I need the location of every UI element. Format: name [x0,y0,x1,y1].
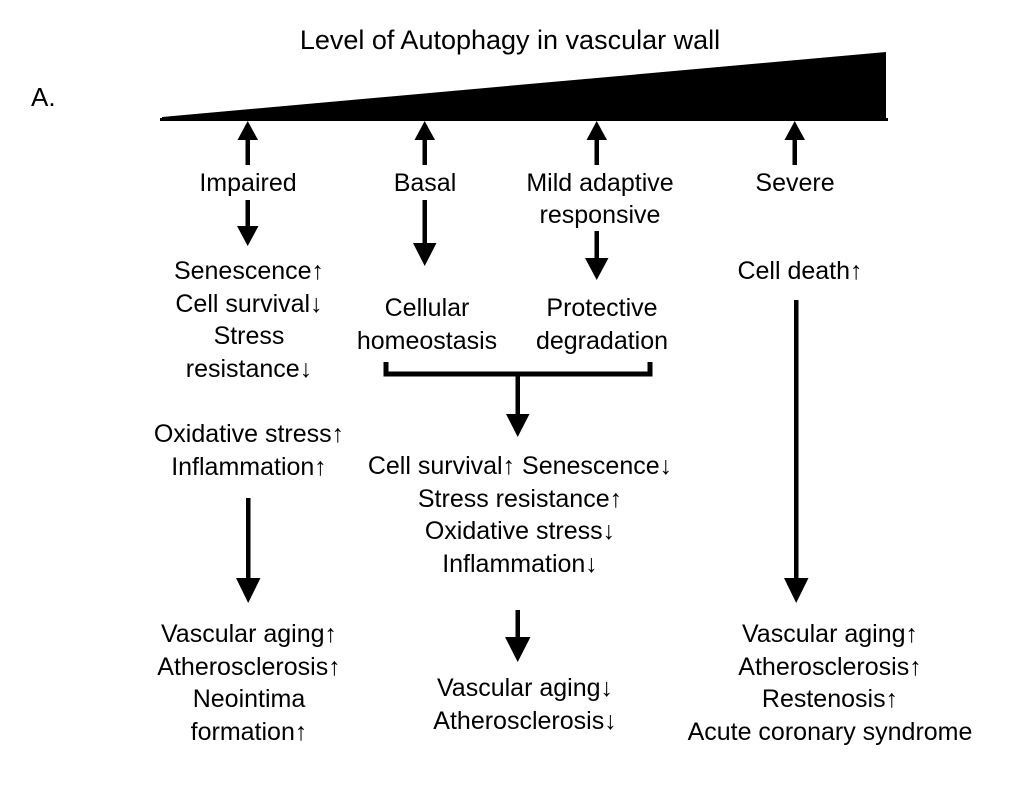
stage-label-mild-line1: Mild adaptive [500,167,700,199]
impaired-tier2-line-1: Oxidative stress↑ [110,418,388,451]
figure-title: Level of Autophagy in vascular wall [0,27,1020,54]
basal-effect-line-2: homeostasis [338,325,516,358]
mild-adaptive-effect: Protective degradation [512,292,692,357]
impaired-outcome-line-1: Vascular aging↑ [110,618,388,651]
up-arrow-icon-basal [415,121,436,165]
severe-outcome-line-2: Atherosclerosis↑ [640,651,1020,684]
merged-effect-line-2: Stress resistance↑ [330,483,710,516]
down-arrow-icon-basal-stage-to-effect [413,200,437,266]
up-arrow-icon-severe [785,121,806,165]
autophagy-level-wedge-icon [162,52,886,119]
severe-outcome-line-3: Restenosis↑ [640,683,1020,716]
merged-middle-effects: Cell survival↑ Senescence↓ Stress resist… [330,450,710,580]
impaired-outcomes: Vascular aging↑ Atherosclerosis↑ Neointi… [110,618,388,748]
mild-effect-line-1: Protective [512,292,692,325]
stage-label-mild-adaptive: Mild adaptive responsive [500,167,700,231]
down-arrow-icon-impaired-tier2-to-outcomes [236,498,261,603]
up-arrow-icon-impaired [238,121,259,165]
merged-effect-line-1: Cell survival↑ Senescence↓ [330,450,710,483]
impaired-outcome-line-4: formation↑ [110,716,388,749]
merged-effect-line-3: Oxidative stress↓ [330,515,710,548]
severe-outcome-line-4: Acute coronary syndrome [640,716,1020,749]
basal-effect-line-1: Cellular [338,292,516,325]
stage-label-basal-text: Basal [345,167,505,199]
impaired-tier1-line-1: Senescence↑ [110,255,388,288]
merged-middle-outcomes: Vascular aging↓ Atherosclerosis↓ [380,672,670,737]
stage-label-mild-line2: responsive [500,199,700,231]
up-arrow-icon-mild-adaptive [587,121,608,165]
severe-tier1-line-1: Cell death↑ [690,255,910,288]
down-arrow-icon-impaired-stage-to-tier1 [237,200,259,246]
impaired-tier1-line-4: resistance↓ [110,353,388,386]
stage-label-severe-text: Severe [700,167,890,199]
down-arrow-icon-merged-to-tier1 [506,376,530,437]
merged-outcome-line-1: Vascular aging↓ [380,672,670,705]
merged-effect-line-4: Inflammation↓ [330,548,710,581]
stage-pointer-arrows [238,121,806,165]
impaired-outcome-line-2: Atherosclerosis↑ [110,651,388,684]
down-arrow-icon-mild-stage-to-effect [585,231,609,280]
stage-label-severe: Severe [700,167,890,199]
merge-bracket [386,362,650,374]
impaired-outcome-line-3: Neointima [110,683,388,716]
merged-outcome-line-2: Atherosclerosis↓ [380,705,670,738]
autophagy-vascular-wall-figure: A. Level of Autophagy in vascular wall I… [0,0,1020,799]
stage-label-basal: Basal [345,167,505,199]
panel-label: A. [31,84,56,110]
stage-label-impaired: Impaired [148,167,348,199]
severe-outcomes: Vascular aging↑ Atherosclerosis↑ Resteno… [640,618,1020,748]
stage-label-impaired-text: Impaired [148,167,348,199]
basal-effect: Cellular homeostasis [338,292,516,357]
down-arrow-icon-merged-tier1-to-outcomes [505,610,531,662]
down-arrow-icon-severe-celldeath-to-outcomes [784,300,809,603]
severe-outcome-line-1: Vascular aging↑ [640,618,1020,651]
mild-effect-line-2: degradation [512,325,692,358]
severe-tier1-effects: Cell death↑ [690,255,910,288]
